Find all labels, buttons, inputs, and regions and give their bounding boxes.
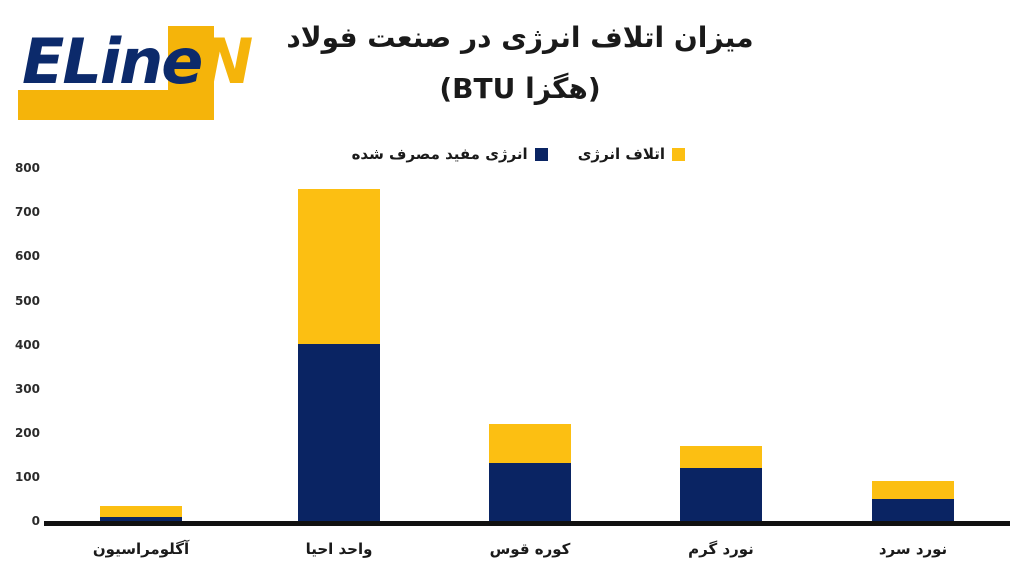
x-axis-label-3: نورد گرم (646, 540, 796, 558)
bar-stack-3 (680, 446, 762, 521)
chart-plot-area: 800 700 600 500 400 300 200 100 0 آگلومر… (0, 0, 1024, 576)
y-axis-tick-400: 400 (6, 338, 40, 352)
y-axis-tick-200: 200 (6, 426, 40, 440)
bar-segment-loss-3[interactable] (680, 446, 762, 468)
bar-stack-1 (298, 189, 380, 521)
bar-stack-0 (100, 506, 182, 521)
x-axis-baseline (44, 521, 1010, 526)
x-axis-label-2: کوره قوس (455, 540, 605, 558)
y-axis-tick-800: 800 (6, 161, 40, 175)
bar-segment-loss-4[interactable] (872, 481, 954, 499)
bar-segment-loss-2[interactable] (489, 424, 571, 464)
x-axis-label-4: نورد سرد (838, 540, 988, 558)
bar-segment-loss-1[interactable] (298, 189, 380, 344)
bar-segment-useful-2[interactable] (489, 463, 571, 521)
bar-segment-useful-3[interactable] (680, 468, 762, 521)
bar-stack-2 (489, 424, 571, 521)
bar-segment-loss-0[interactable] (100, 506, 182, 518)
bar-segment-useful-4[interactable] (872, 499, 954, 521)
y-axis-tick-600: 600 (6, 249, 40, 263)
y-axis-tick-500: 500 (6, 294, 40, 308)
x-axis-label-1: واحد احیا (264, 540, 414, 558)
bar-segment-useful-0[interactable] (100, 517, 182, 521)
y-axis-tick-300: 300 (6, 382, 40, 396)
y-axis-tick-0: 0 (6, 514, 40, 528)
y-axis-tick-700: 700 (6, 205, 40, 219)
y-axis-tick-100: 100 (6, 470, 40, 484)
bar-stack-4 (872, 481, 954, 521)
x-axis-label-0: آگلومراسیون (66, 540, 216, 558)
bar-segment-useful-1[interactable] (298, 344, 380, 521)
